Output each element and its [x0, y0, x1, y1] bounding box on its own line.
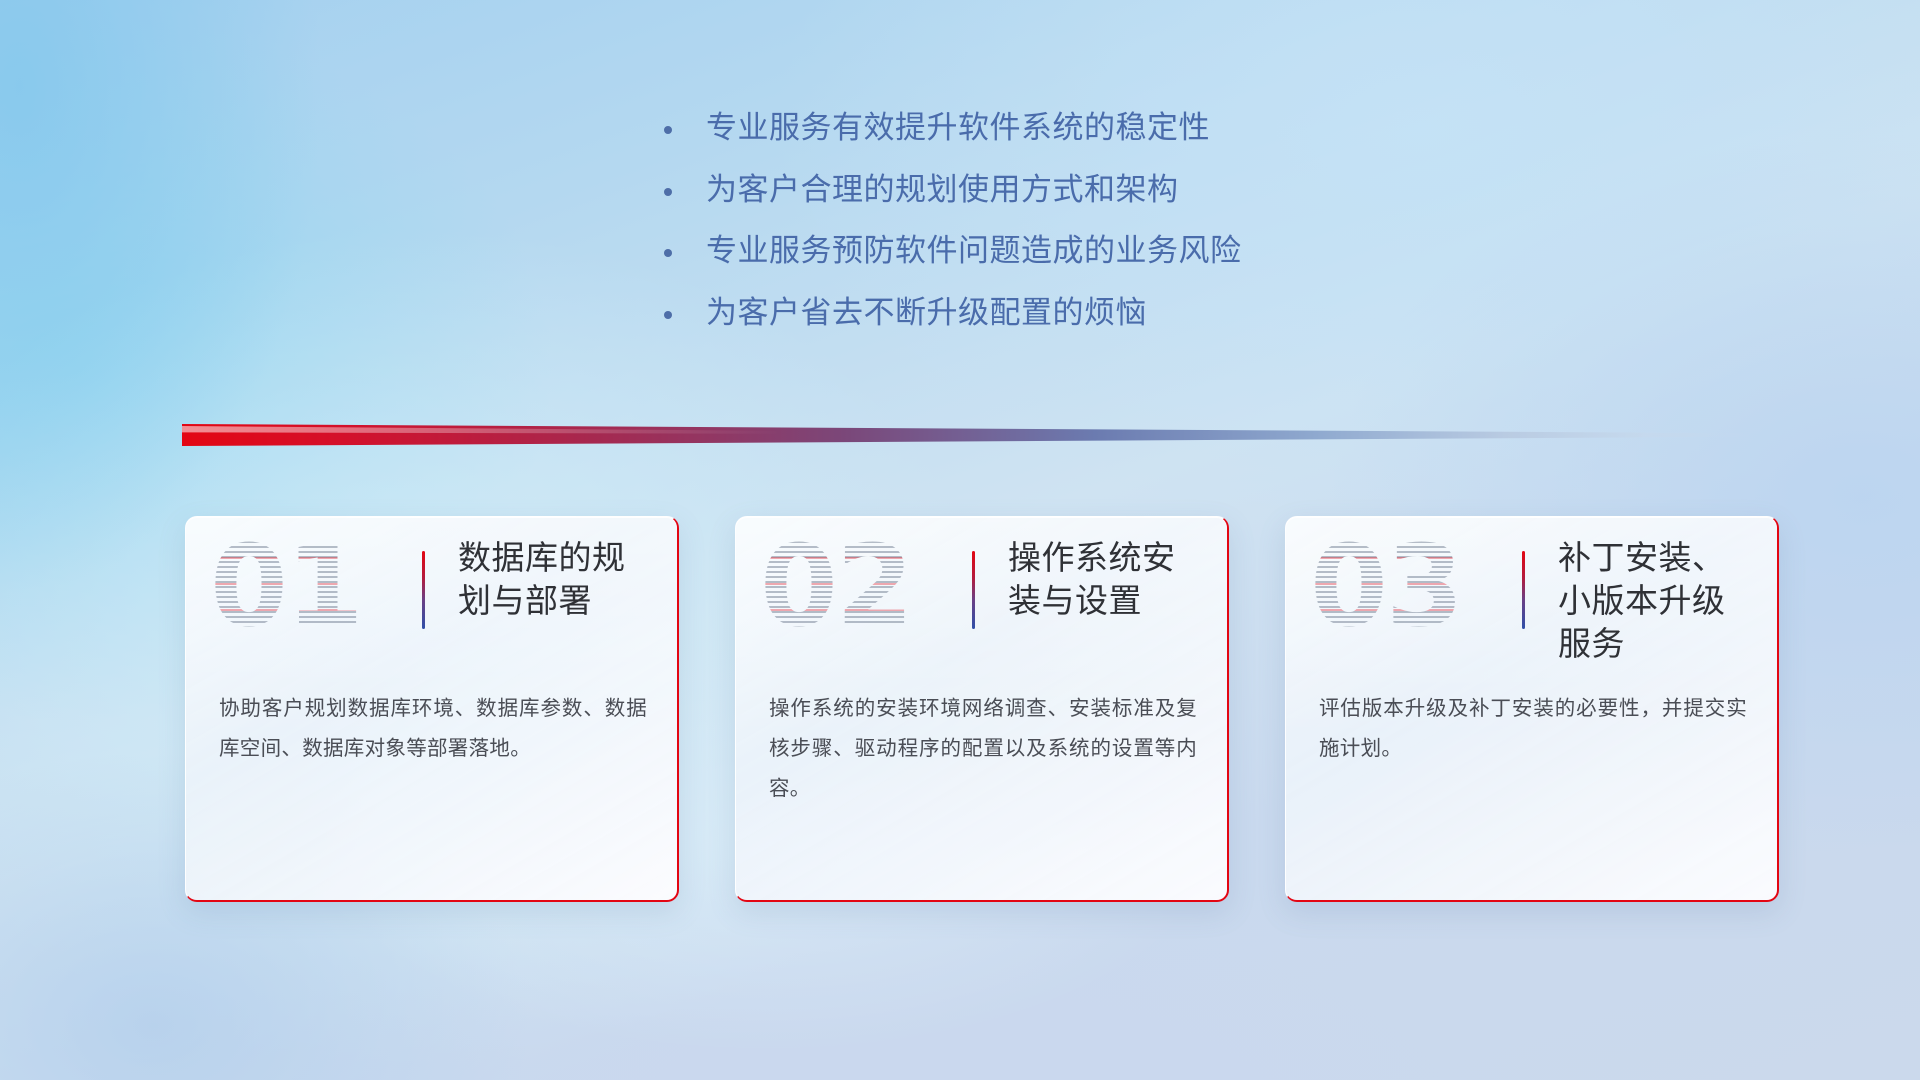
card-title: 补丁安装、小版本升级服务 [1558, 537, 1755, 666]
bullet-dot-icon [664, 126, 672, 134]
card-accent-bar [1522, 551, 1525, 629]
card-accent-bar [422, 551, 425, 629]
list-item: 为客户省去不断升级配置的烦恼 [664, 293, 1242, 333]
card-description: 评估版本升级及补丁安装的必要性，并提交实施计划。 [1319, 689, 1747, 769]
divider-wedge [182, 424, 1757, 446]
section-divider [182, 424, 1757, 446]
card-header: 01 01 数据库的规划与部署 [186, 517, 677, 665]
service-card-03[interactable]: 03 03 补丁安装、小版本升级服务 评估版本升级及补丁安装的必要性，并提交实施… [1285, 516, 1779, 902]
bullet-dot-icon [664, 249, 672, 257]
slide-canvas: 专业服务有效提升软件系统的稳定性 为客户合理的规划使用方式和架构 专业服务预防软… [0, 0, 1920, 1080]
list-item: 专业服务有效提升软件系统的稳定性 [664, 108, 1242, 148]
card-description: 操作系统的安装环境网络调查、安装标准及复核步骤、驱动程序的配置以及系统的设置等内… [769, 689, 1197, 809]
bullet-text: 专业服务有效提升软件系统的稳定性 [706, 108, 1210, 148]
bullet-dot-icon [664, 311, 672, 319]
service-card-02[interactable]: 02 02 操作系统安装与设置 操作系统的安装环境网络调查、安装标准及复核步骤、… [735, 516, 1229, 902]
card-accent-bar [972, 551, 975, 629]
bullet-text: 为客户省去不断升级配置的烦恼 [706, 293, 1147, 333]
service-card-list: 01 01 数据库的规划与部署 协助客户规划数据库环境、数据库参数、数据库空间、… [185, 516, 1779, 902]
list-item: 专业服务预防软件问题造成的业务风险 [664, 231, 1242, 271]
list-item: 为客户合理的规划使用方式和架构 [664, 170, 1242, 210]
service-card-01[interactable]: 01 01 数据库的规划与部署 协助客户规划数据库环境、数据库参数、数据库空间、… [185, 516, 679, 902]
card-title: 数据库的规划与部署 [458, 537, 655, 623]
bullet-text: 为客户合理的规划使用方式和架构 [706, 170, 1179, 210]
card-number-watermark-accent: 02 [760, 531, 912, 643]
benefits-list: 专业服务有效提升软件系统的稳定性 为客户合理的规划使用方式和架构 专业服务预防软… [664, 108, 1242, 355]
card-number-watermark-accent: 01 [210, 531, 362, 643]
bullet-text: 专业服务预防软件问题造成的业务风险 [706, 231, 1242, 271]
card-header: 03 03 补丁安装、小版本升级服务 [1286, 517, 1777, 665]
card-header: 02 02 操作系统安装与设置 [736, 517, 1227, 665]
card-title: 操作系统安装与设置 [1008, 537, 1205, 623]
card-description: 协助客户规划数据库环境、数据库参数、数据库空间、数据库对象等部署落地。 [219, 689, 647, 769]
bullet-dot-icon [664, 188, 672, 196]
card-number-watermark-accent: 03 [1310, 531, 1462, 643]
